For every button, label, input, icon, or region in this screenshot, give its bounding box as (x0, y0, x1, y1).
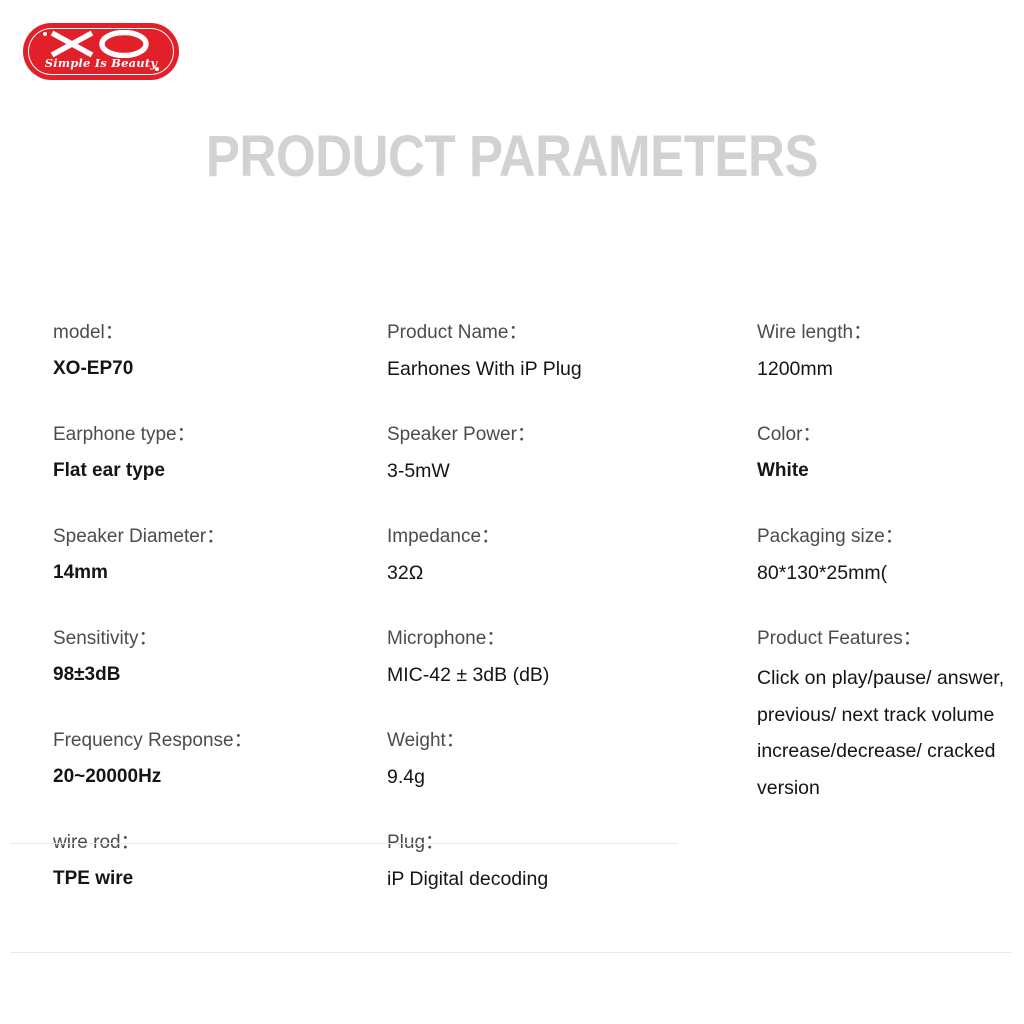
spec-column-1: model： XO-EP70 Earphone type： Flat ear t… (53, 318, 383, 930)
spec-value: Earhones With iP Plug (387, 354, 747, 384)
spec-label: Color： (757, 420, 1024, 449)
spec-item-color: Color： White (757, 420, 1024, 486)
spec-item-sensitivity: Sensitivity： 98±3dB (53, 624, 383, 690)
spec-label: Impedance： (387, 522, 747, 551)
spec-value: 1200mm (757, 354, 1024, 384)
spec-label: Weight： (387, 726, 747, 755)
spec-value: 14mm (53, 558, 383, 588)
spec-label: Frequency Response： (53, 726, 383, 755)
spec-item-wire-rod: wire rod： TPE wire (53, 828, 383, 894)
spec-label: Speaker Diameter： (53, 522, 383, 551)
spec-value: TPE wire (53, 864, 383, 894)
spec-item-plug: Plug： iP Digital decoding (387, 828, 747, 894)
spec-label: Product Name： (387, 318, 747, 347)
spec-column-2: Product Name： Earhones With iP Plug Spea… (387, 318, 747, 930)
spec-item-speaker-power: Speaker Power： 3-5mW (387, 420, 747, 486)
spec-label: Earphone type： (53, 420, 383, 449)
spec-item-speaker-diameter: Speaker Diameter： 14mm (53, 522, 383, 588)
spec-item-earphone-type: Earphone type： Flat ear type (53, 420, 383, 486)
divider-bottom (10, 952, 1012, 953)
spec-item-frequency-response: Frequency Response： 20~20000Hz (53, 726, 383, 792)
spec-label: Sensitivity： (53, 624, 383, 653)
spec-value: 20~20000Hz (53, 762, 383, 792)
spec-value: XO-EP70 (53, 354, 383, 384)
product-parameters-table: model： XO-EP70 Earphone type： Flat ear t… (0, 0, 1024, 1024)
spec-value: Click on play/pause/ answer, previous/ n… (757, 660, 1024, 806)
spec-label: Wire length： (757, 318, 1024, 347)
spec-item-wire-length: Wire length： 1200mm (757, 318, 1024, 384)
spec-value: White (757, 456, 1024, 486)
spec-value: 3-5mW (387, 456, 747, 486)
spec-item-product-name: Product Name： Earhones With iP Plug (387, 318, 747, 384)
spec-value: 32Ω (387, 558, 747, 588)
spec-value: 98±3dB (53, 660, 383, 690)
spec-column-3: Wire length： 1200mm Color： White Packagi… (757, 318, 1024, 842)
spec-value: MIC-42 ± 3dB (dB) (387, 660, 747, 690)
spec-label: model： (53, 318, 383, 347)
spec-label: Packaging size： (757, 522, 1024, 551)
spec-label: Speaker Power： (387, 420, 747, 449)
spec-value: iP Digital decoding (387, 864, 747, 894)
spec-item-weight: Weight： 9.4g (387, 726, 747, 792)
spec-item-packaging-size: Packaging size： 80*130*25mm( (757, 522, 1024, 588)
spec-label: Product Features： (757, 624, 1024, 653)
spec-item-microphone: Microphone： MIC-42 ± 3dB (dB) (387, 624, 747, 690)
spec-value: 80*130*25mm( (757, 558, 1024, 588)
spec-item-model: model： XO-EP70 (53, 318, 383, 384)
spec-item-product-features: Product Features： Click on play/pause/ a… (757, 624, 1024, 806)
spec-value: Flat ear type (53, 456, 383, 486)
spec-item-impedance: Impedance： 32Ω (387, 522, 747, 588)
spec-value: 9.4g (387, 762, 747, 792)
divider-middle (10, 843, 678, 844)
spec-label: Microphone： (387, 624, 747, 653)
